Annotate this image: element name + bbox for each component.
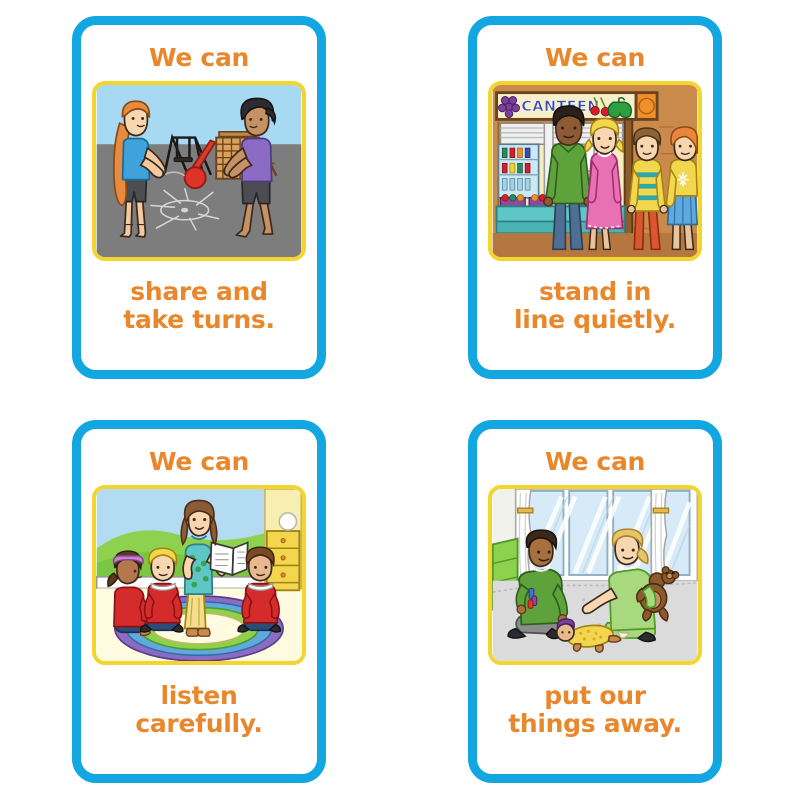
- card-illustration-tidying: [488, 485, 702, 665]
- rule-card-stand-in-line-quietly[interactable]: We can CANTEEN: [468, 16, 722, 379]
- rule-card-put-our-things-away[interactable]: We can: [468, 420, 722, 783]
- card-illustration-classroom: [92, 485, 306, 665]
- card-caption: put our things away.: [502, 682, 688, 738]
- rule-card-listen-carefully[interactable]: We can: [72, 420, 326, 783]
- card-illustration-playground: [92, 81, 306, 261]
- rule-card-share-and-take-turns[interactable]: We can: [72, 16, 326, 379]
- card-caption: share and take turns.: [117, 278, 280, 334]
- card-title: We can: [545, 449, 645, 474]
- card-illustration-canteen: CANTEEN: [488, 81, 702, 261]
- card-title: We can: [149, 45, 249, 70]
- flashcard-sheet: We can: [0, 0, 800, 800]
- card-caption: listen carefully.: [129, 682, 268, 738]
- card-title: We can: [149, 449, 249, 474]
- card-title: We can: [545, 45, 645, 70]
- card-caption: stand in line quietly.: [508, 278, 682, 334]
